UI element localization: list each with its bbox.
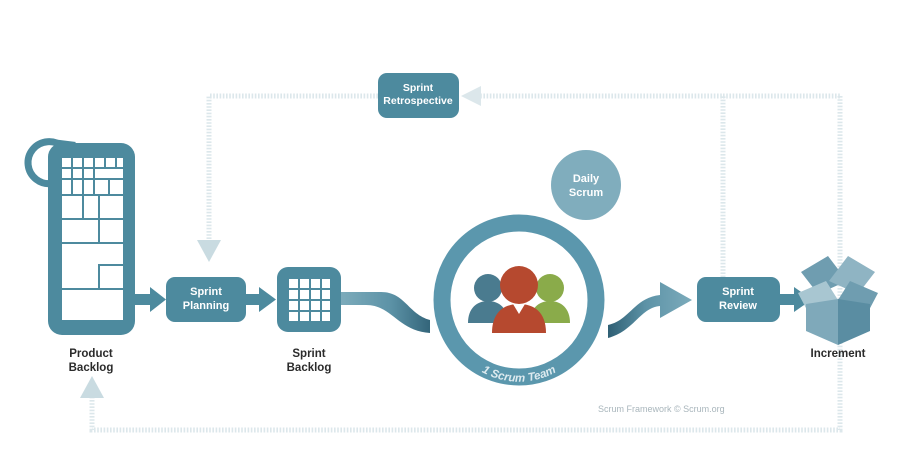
daily-scrum-label-line2: Scrum — [569, 187, 603, 199]
sprint-backlog-label-line1: Sprint — [292, 348, 325, 360]
sprint-retrospective-node[interactable]: Sprint Retrospective — [378, 73, 459, 118]
sprint-backlog-label-line2: Backlog — [287, 362, 332, 374]
sprint-retrospective-label-line1: Sprint — [403, 82, 434, 94]
sprint-planning-label-line1: Sprint — [190, 286, 222, 298]
sprint-planning-node[interactable]: Sprint Planning — [166, 277, 246, 322]
sprint-backlog-box — [277, 267, 341, 332]
product-backlog-node[interactable] — [28, 139, 135, 335]
sprint-review-label-line1: Sprint — [722, 286, 754, 298]
sprint-backlog-node[interactable] — [277, 267, 341, 332]
sprint-retrospective-label-line2: Retrospective — [383, 95, 453, 107]
increment-label: Increment — [811, 348, 866, 360]
daily-scrum-circle — [551, 150, 621, 220]
attribution-label: Scrum Framework © Scrum.org — [598, 404, 725, 414]
increment-node[interactable] — [798, 256, 878, 345]
daily-scrum-node[interactable]: Daily Scrum — [551, 150, 621, 220]
scrum-framework-diagram: Product Backlog Sprint Planning Sprint B… — [0, 0, 897, 463]
connector-planning-to-sprint-backlog — [246, 287, 276, 312]
open-box-icon — [798, 256, 878, 345]
scrum-team-node[interactable]: 1 Scrum Team — [442, 223, 596, 385]
connector-backlog-to-planning — [135, 287, 166, 312]
connector-team-to-sprint-review — [608, 282, 692, 338]
connector-sprint-backlog-to-team — [341, 292, 430, 333]
product-backlog-label-line2: Backlog — [69, 362, 114, 374]
sprint-planning-label-line2: Planning — [183, 300, 229, 312]
product-backlog-label-line1: Product — [69, 348, 113, 360]
diagram-canvas: Product Backlog Sprint Planning Sprint B… — [0, 0, 897, 463]
connector-retrospective-to-planning — [197, 96, 378, 262]
daily-scrum-label-line1: Daily — [573, 173, 600, 185]
sprint-review-label-line2: Review — [719, 300, 757, 312]
sprint-review-node[interactable]: Sprint Review — [697, 277, 780, 322]
three-people-icon — [468, 266, 570, 333]
